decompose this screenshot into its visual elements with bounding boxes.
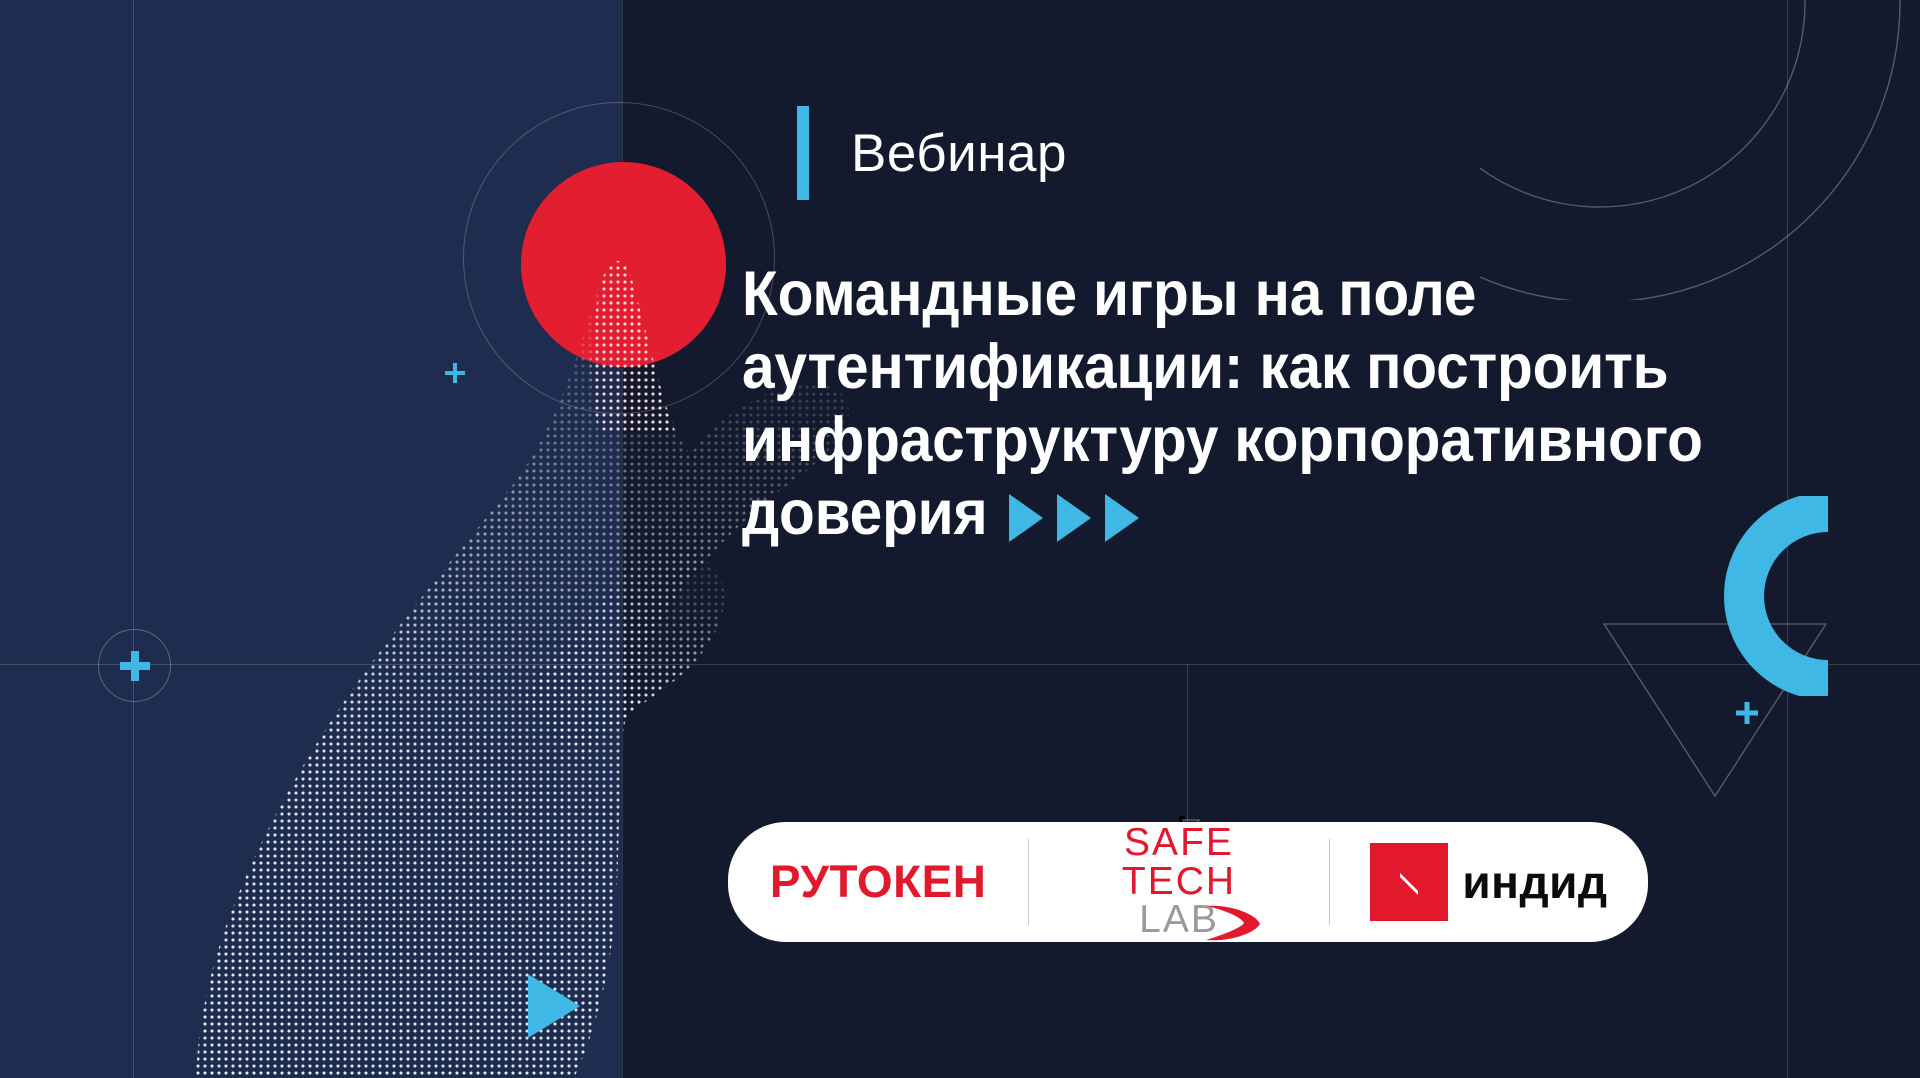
headline-line-1: Командные игры на поле [742, 258, 1765, 331]
chevron-right-icon [1057, 494, 1091, 542]
kicker-accent-bar [797, 106, 809, 200]
headline-line-4-wrap: доверия [742, 477, 1765, 550]
logo-safe-tech-lab-stack: SAFE TECH LAB [1122, 824, 1236, 940]
red-circle [521, 162, 726, 367]
headline-line-3: инфраструктуру корпоративного [742, 404, 1765, 477]
chevron-right-icon [1105, 494, 1139, 542]
chevron-group [1009, 494, 1139, 542]
webinar-banner: Вебинар Командные игры на поле аутентифи… [0, 0, 1920, 1078]
kicker-label: Вебинар [851, 123, 1067, 184]
kicker: Вебинар [797, 106, 1067, 200]
page-title: Командные игры на поле аутентификации: к… [742, 258, 1765, 550]
grid-line-vertical [1187, 664, 1188, 824]
plus-icon [1734, 700, 1760, 730]
headline-line-4: доверия [742, 477, 988, 550]
logo-indid[interactable]: индид [1330, 822, 1648, 942]
logo-indid-text: индид [1462, 855, 1607, 909]
logo-indid-mark-icon [1370, 843, 1448, 921]
logo-indid-group: индид [1370, 843, 1607, 921]
logo-stl-swoosh-icon [1204, 900, 1262, 944]
headline-line-2: аутентификации: как построить [742, 331, 1765, 404]
logo-stl-line-1: SAFE [1124, 824, 1234, 863]
quarter-arc-group [1480, 0, 1920, 300]
grid-line-vertical [133, 0, 134, 1078]
logo-rutoken-text: РУТОКЕН [770, 856, 987, 908]
logo-rutoken[interactable]: РУТОКЕН [728, 822, 1028, 942]
play-triangle-icon[interactable] [528, 974, 580, 1038]
plus-icon [443, 361, 467, 389]
chevron-right-icon [1009, 494, 1043, 542]
partner-logo-bar: РУТОКЕН SAFE TECH LAB [728, 822, 1648, 942]
plus-in-circle-icon [98, 629, 171, 702]
logo-safe-tech-lab[interactable]: SAFE TECH LAB [1029, 822, 1329, 942]
logo-stl-line-2: TECH [1122, 863, 1236, 902]
